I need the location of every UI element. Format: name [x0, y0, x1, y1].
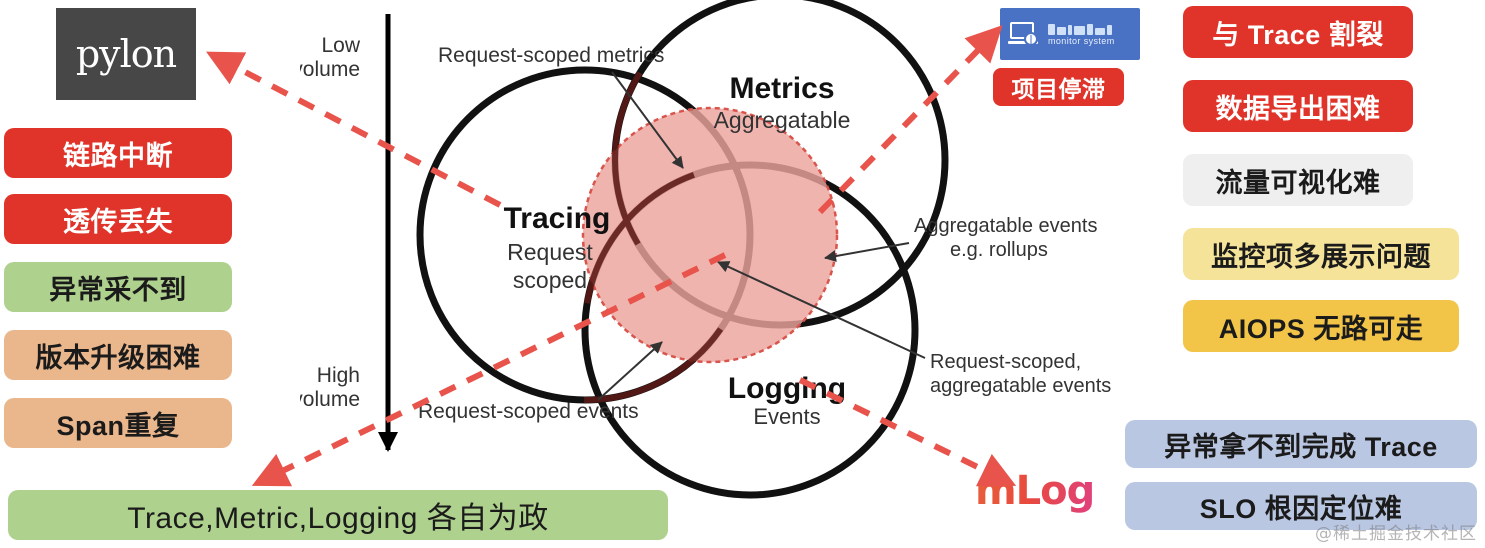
volume-axis-arrowhead [378, 432, 398, 452]
axis-low-volume-line1: Low [321, 34, 360, 57]
bottom-right-label-0-text: 异常拿不到完成 Trace [1164, 425, 1438, 464]
axis-high-volume-line2: volume [300, 388, 360, 411]
tracing-subtitle-line2: scoped [513, 267, 587, 293]
watermark: @稀土掘金技术社区 [1315, 519, 1477, 544]
left-label-1[interactable]: 透传丢失 [4, 194, 232, 244]
right-label-2-text: 流量可视化难 [1216, 161, 1381, 200]
left-label-4-text: Span重复 [56, 404, 179, 443]
pylon-logo: pylon [56, 8, 196, 100]
annotation-aggregatable-events-line2: e.g. rollups [950, 239, 1048, 261]
axis-low-volume-line2: volume [300, 58, 360, 81]
metrics-subtitle: Aggregatable [714, 107, 851, 133]
logging-subtitle: Events [753, 404, 820, 429]
right-label-1[interactable]: 数据导出困难 [1183, 80, 1413, 132]
axis-high-volume-line1: High [317, 364, 360, 387]
right-label-4-text: AIOPS 无路可走 [1219, 307, 1424, 346]
left-label-4[interactable]: Span重复 [4, 398, 232, 448]
left-label-0[interactable]: 链路中断 [4, 128, 232, 178]
right-label-2[interactable]: 流量可视化难 [1183, 154, 1413, 206]
metrics-title: Metrics [729, 72, 834, 105]
left-label-2[interactable]: 异常采不到 [4, 262, 232, 312]
left-label-3-text: 版本升级困难 [36, 336, 201, 375]
annotation-request-scoped-events: Request-scoped events [418, 400, 639, 423]
tracing-title: Tracing [504, 202, 611, 235]
right-label-3-text: 监控项多展示问题 [1211, 235, 1431, 274]
left-label-2-text: 异常采不到 [49, 268, 187, 307]
left-label-1-text: 透传丢失 [63, 200, 173, 239]
annotation-request-scoped-aggregatable-line1: Request-scoped, [930, 351, 1081, 373]
right-label-1-text: 数据导出困难 [1216, 87, 1381, 126]
right-label-0[interactable]: 与 Trace 割裂 [1183, 6, 1413, 58]
bottom-right-label-0[interactable]: 异常拿不到完成 Trace [1125, 420, 1477, 468]
right-label-0-text: 与 Trace 割裂 [1212, 13, 1384, 52]
logging-title: Logging [728, 372, 846, 405]
annotation-aggregatable-events-line1: Aggregatable events [914, 215, 1097, 237]
right-label-3[interactable]: 监控项多展示问题 [1183, 228, 1459, 280]
intersection-highlight [583, 108, 837, 362]
left-label-3[interactable]: 版本升级困难 [4, 330, 232, 380]
pylon-logo-text: pylon [76, 32, 176, 76]
venn-diagram: Low volume High volume Tracing Request s… [300, 0, 1130, 500]
annotation-request-scoped-metrics: Request-scoped metrics [438, 44, 664, 67]
left-label-0-text: 链路中断 [63, 134, 173, 173]
right-label-4[interactable]: AIOPS 无路可走 [1183, 300, 1459, 352]
tracing-subtitle-line1: Request [507, 239, 593, 265]
slide-canvas: pylon 链路中断 透传丢失 异常采不到 版本升级困难 Span重复 moni… [0, 0, 1485, 548]
annotation-request-scoped-aggregatable-line2: aggregatable events [930, 375, 1111, 397]
